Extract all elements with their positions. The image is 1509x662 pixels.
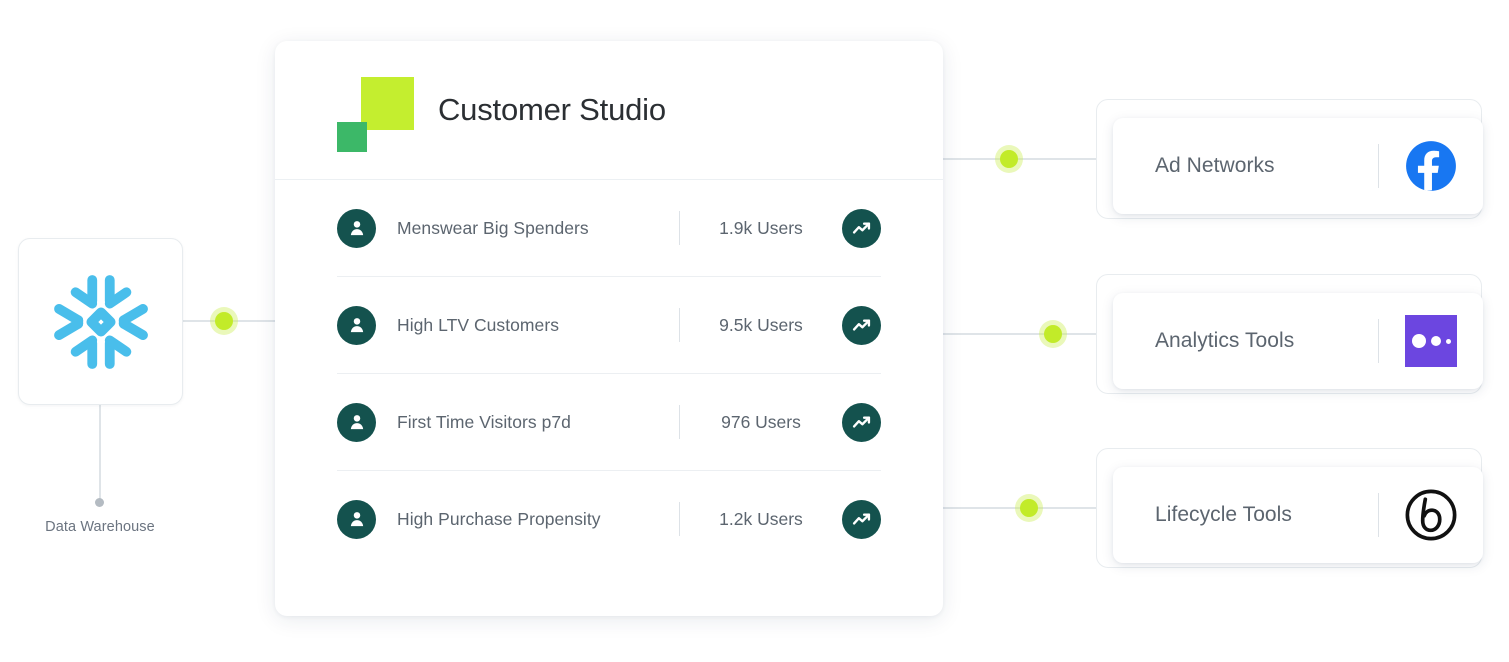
- logo-square-small: [337, 122, 367, 152]
- segment-row[interactable]: High Purchase Propensity 1.2k Users: [337, 471, 881, 567]
- person-icon: [337, 403, 376, 442]
- segment-user-count: 9.5k Users: [680, 315, 842, 336]
- connector-warehouse-stem: [99, 404, 101, 504]
- customer-studio-card: Customer Studio Menswear Big Spenders 1.…: [275, 41, 943, 616]
- destination-inner-analytics-tools[interactable]: Analytics Tools: [1113, 293, 1483, 389]
- mixpanel-icon: [1379, 315, 1483, 367]
- connector-dot-source: [215, 312, 233, 330]
- braze-icon: [1379, 487, 1483, 543]
- person-icon: [337, 209, 376, 248]
- segment-row[interactable]: First Time Visitors p7d 976 Users: [337, 374, 881, 471]
- segment-user-count: 1.2k Users: [680, 509, 842, 530]
- segment-name: Menswear Big Spenders: [397, 218, 679, 239]
- connector-dot-analytics-tools: [1044, 325, 1062, 343]
- segment-row[interactable]: Menswear Big Spenders 1.9k Users: [337, 180, 881, 277]
- trending-up-icon[interactable]: [842, 403, 881, 442]
- destination-label: Lifecycle Tools: [1155, 503, 1378, 527]
- destination-inner-ad-networks[interactable]: Ad Networks: [1113, 118, 1483, 214]
- destination-label: Analytics Tools: [1155, 329, 1378, 353]
- connector-studio-to-analytics-tools: [943, 333, 1111, 335]
- destination-label: Ad Networks: [1155, 154, 1378, 178]
- destination-card-analytics-tools[interactable]: Analytics Tools: [1096, 274, 1482, 394]
- segment-name: High Purchase Propensity: [397, 509, 679, 530]
- trending-up-icon[interactable]: [842, 306, 881, 345]
- connector-dot-lifecycle-tools: [1020, 499, 1038, 517]
- diagram-canvas: Data Warehouse Customer Studio Menswear …: [0, 0, 1509, 662]
- person-icon: [337, 306, 376, 345]
- destination-card-lifecycle-tools[interactable]: Lifecycle Tools: [1096, 448, 1482, 568]
- warehouse-endpoint-dot: [95, 498, 104, 507]
- connector-dot-ad-networks: [1000, 150, 1018, 168]
- segment-row[interactable]: High LTV Customers 9.5k Users: [337, 277, 881, 374]
- destination-card-ad-networks[interactable]: Ad Networks: [1096, 99, 1482, 219]
- facebook-icon: [1379, 140, 1483, 192]
- customer-studio-logo: [337, 65, 415, 155]
- customer-studio-header: Customer Studio: [275, 41, 943, 180]
- data-warehouse-source-card[interactable]: [18, 238, 183, 405]
- destination-inner-lifecycle-tools[interactable]: Lifecycle Tools: [1113, 467, 1483, 563]
- connector-studio-to-ad-networks: [943, 158, 1111, 160]
- page-title: Customer Studio: [438, 92, 666, 128]
- trending-up-icon[interactable]: [842, 500, 881, 539]
- segment-list: Menswear Big Spenders 1.9k Users: [275, 180, 943, 567]
- data-warehouse-label: Data Warehouse: [0, 519, 200, 535]
- segment-user-count: 976 Users: [680, 412, 842, 433]
- segment-user-count: 1.9k Users: [680, 218, 842, 239]
- segment-name: High LTV Customers: [397, 315, 679, 336]
- logo-square-large: [361, 77, 414, 130]
- person-icon: [337, 500, 376, 539]
- segment-name: First Time Visitors p7d: [397, 412, 679, 433]
- trending-up-icon[interactable]: [842, 209, 881, 248]
- snowflake-icon: [45, 266, 157, 378]
